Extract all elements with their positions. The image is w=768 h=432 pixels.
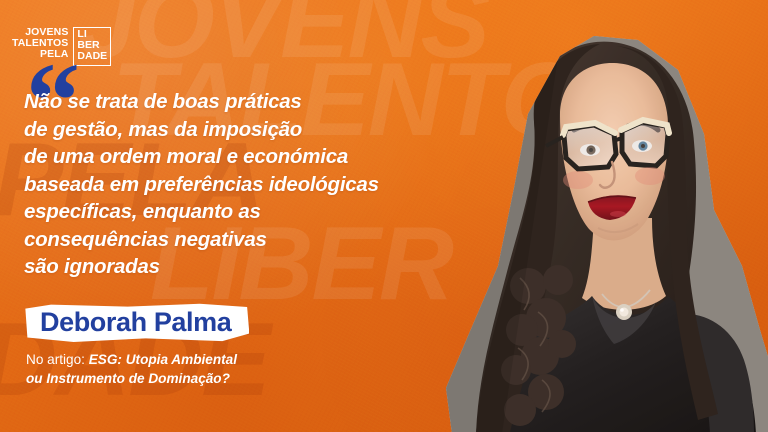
article-attribution: No artigo: ESG: Utopia Ambiental ou Inst…: [26, 350, 326, 389]
quote-line: Não se trata de boas práticas: [24, 88, 454, 116]
portrait-photo: [442, 30, 768, 432]
brand-logo-line-dade: DADE: [77, 51, 107, 62]
quote-line: de uma ordem moral e económica: [24, 143, 454, 171]
quote-line: são ignoradas: [24, 253, 454, 281]
attribution-lead: No artigo:: [26, 352, 89, 367]
quote-line: específicas, enquanto as: [24, 198, 454, 226]
author-name-badge-shape: Deborah Palma: [24, 303, 249, 343]
article-title-part-2: ou Instrumento de Dominação?: [26, 369, 326, 388]
author-portrait: [442, 30, 768, 432]
brand-logo-liberdade-box: LI BER DADE: [73, 27, 111, 66]
article-title-part-1: ESG: Utopia Ambiental: [89, 352, 237, 367]
author-name-badge: Deborah Palma: [24, 303, 249, 343]
quote-line: de gestão, mas da imposição: [24, 116, 454, 144]
quote-line: consequências negativas: [24, 226, 454, 254]
author-name: Deborah Palma: [40, 308, 231, 337]
quote-card: JOVENS TALENTOS PELA LIBER DADE JOVENS T…: [0, 0, 768, 432]
quote-line: baseada em preferências ideológicas: [24, 171, 454, 199]
quote-text: Não se trata de boas práticas de gestão,…: [24, 88, 454, 281]
attribution-line-1: No artigo: ESG: Utopia Ambiental: [26, 350, 326, 369]
